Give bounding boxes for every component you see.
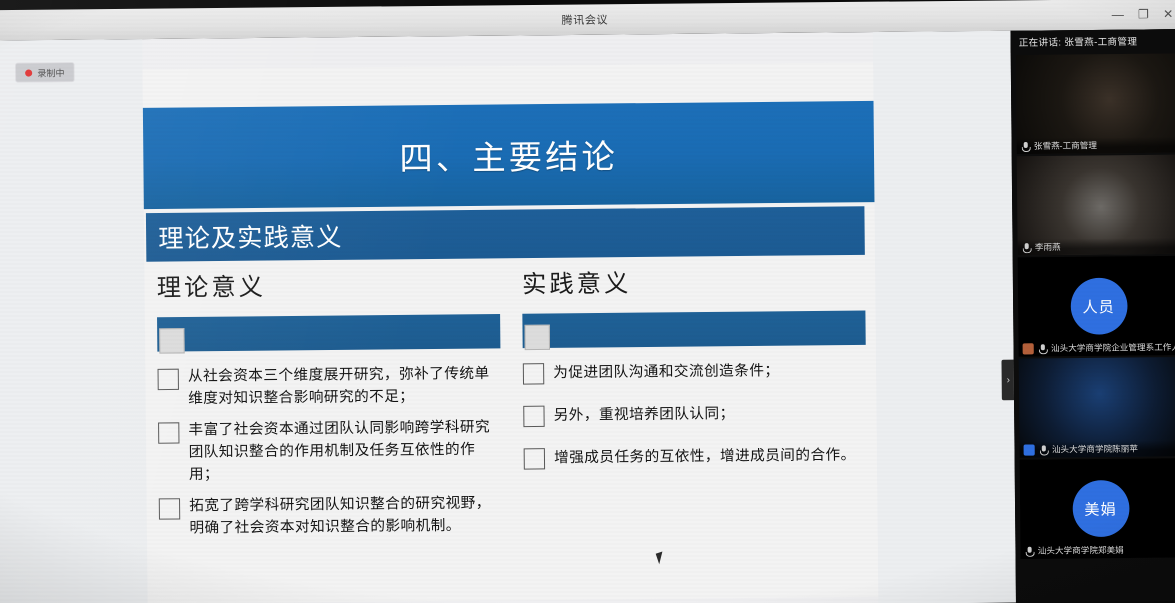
avatar: 美娟 <box>1072 480 1129 537</box>
participant-name: 汕头大学商学院企业管理系工作人员 <box>1051 341 1175 354</box>
minimize-icon[interactable]: — <box>1112 8 1124 20</box>
bullet-text: 另外，重视培养团队认同； <box>554 403 735 427</box>
meeting-body: 录制中 四、主要结论 理论及实践意义 理论意义 <box>0 29 1175 603</box>
record-dot-icon <box>25 69 32 76</box>
shared-screen-area[interactable]: 录制中 四、主要结论 理论及实践意义 理论意义 <box>0 31 1016 603</box>
list-item: 拓宽了跨学科研究团队知识整合的研究视野，明确了社会资本对知识整合的影响机制。 <box>159 492 502 540</box>
slide-subtitle: 理论及实践意义 <box>146 217 343 255</box>
checkbox-icon <box>158 369 179 390</box>
recording-label: 录制中 <box>37 66 64 79</box>
maximize-icon[interactable]: ❐ <box>1138 8 1149 20</box>
microphone-icon <box>1025 546 1034 555</box>
slide-column-practice: 实践意义 为促进团队沟通和交流创造条件； 另外，重视培养团队认同； <box>510 261 879 598</box>
rule-square-icon <box>524 325 550 351</box>
slide-column-theory: 理论意义 从社会资本三个维度展开研究，弥补了传统单维度对知识整合影响研究的不足；… <box>144 264 513 601</box>
checkbox-icon <box>524 448 545 469</box>
screen: 腾讯会议 — ❐ ✕ 录制中 四、主要结论 <box>0 0 1175 603</box>
list-item: 另外，重视培养团队认同； <box>523 402 866 428</box>
bullet-text: 拓宽了跨学科研究团队知识整合的研究视野，明确了社会资本对知识整合的影响机制。 <box>189 492 502 540</box>
participant-name-bar: 张雪燕-工商管理 <box>1017 136 1175 154</box>
rule-square-icon <box>159 328 185 354</box>
window-controls: — ❐ ✕ <box>1112 0 1174 30</box>
app-title: 腾讯会议 <box>561 11 608 28</box>
slide-subtitle-banner: 理论及实践意义 <box>146 206 865 261</box>
column-heading: 实践意义 <box>522 261 865 300</box>
list-item: 增强成员任务的互依性，增进成员间的合作。 <box>524 444 867 470</box>
checkbox-icon <box>523 406 544 427</box>
checkbox-icon <box>159 498 180 519</box>
participant-name-bar: 汕头大学商学院企业管理系工作人员 <box>1018 339 1175 357</box>
participant-tile[interactable]: 人员 汕头大学商学院企业管理系工作人员 <box>1018 256 1175 357</box>
bullet-text: 增强成员任务的互依性，增进成员间的合作。 <box>554 444 856 469</box>
participant-name: 汕头大学商学院郑美娟 <box>1038 544 1124 557</box>
list-item: 为促进团队沟通和交流创造条件； <box>523 359 866 385</box>
column-rule <box>522 310 865 348</box>
bullet-text: 为促进团队沟通和交流创造条件； <box>553 360 779 384</box>
bullet-text: 从社会资本三个维度展开研究，弥补了传统单维度对知识整合影响研究的不足； <box>188 363 501 411</box>
column-heading: 理论意义 <box>157 264 500 303</box>
bullet-text: 丰富了社会资本通过团队认同影响跨学科研究团队知识整合的作用机制及任务互依性的作用… <box>188 416 501 486</box>
monitor-photo: 腾讯会议 — ❐ ✕ 录制中 四、主要结论 <box>0 0 1175 603</box>
participant-tile[interactable]: 张雪燕-工商管理 <box>1016 53 1175 154</box>
slide-title-banner: 四、主要结论 <box>143 101 875 209</box>
microphone-icon <box>1038 344 1047 353</box>
list-item: 丰富了社会资本通过团队认同影响跨学科研究团队知识整合的作用机制及任务互依性的作用… <box>158 416 502 486</box>
active-speaker-label: 正在讲话: 张雪燕-工商管理 <box>1010 29 1175 53</box>
participant-name: 张雪燕-工商管理 <box>1034 139 1097 152</box>
avatar: 人员 <box>1070 278 1127 335</box>
slide-title: 四、主要结论 <box>399 130 618 181</box>
participant-name-bar: 李雨燕 <box>1018 238 1175 256</box>
participant-tile[interactable]: 李雨燕 <box>1017 155 1175 256</box>
list-item: 从社会资本三个维度展开研究，弥补了传统单维度对知识整合影响研究的不足； <box>157 363 500 411</box>
microphone-icon <box>1039 445 1048 454</box>
checkbox-icon <box>523 363 544 384</box>
recording-badge: 录制中 <box>15 62 75 83</box>
avatar-thumb-icon <box>1024 444 1035 455</box>
microphone-icon <box>1022 243 1031 252</box>
column-rule <box>157 314 500 352</box>
participant-name: 李雨燕 <box>1035 241 1061 253</box>
desktop-left-margin <box>0 39 148 603</box>
participant-name-bar: 汕头大学商学院陈丽苹 <box>1019 440 1175 458</box>
desktop-right-margin <box>873 31 1016 603</box>
avatar-thumb-icon <box>1023 343 1034 354</box>
microphone-icon <box>1021 141 1030 150</box>
participant-name-bar: 汕头大学商学院郑美娟 <box>1020 541 1175 559</box>
participant-tile[interactable]: 美娟 汕头大学商学院郑美娟 <box>1020 458 1175 559</box>
checkbox-icon <box>158 422 179 443</box>
participant-name: 汕头大学商学院陈丽苹 <box>1052 442 1138 455</box>
close-icon[interactable]: ✕ <box>1163 8 1173 20</box>
participant-tile[interactable]: 汕头大学商学院陈丽苹 <box>1019 357 1175 458</box>
presentation-slide: 四、主要结论 理论及实践意义 理论意义 <box>143 62 879 603</box>
slide-columns: 理论意义 从社会资本三个维度展开研究，弥补了传统单维度对知识整合影响研究的不足；… <box>144 261 878 602</box>
participant-rail[interactable]: 正在讲话: 张雪燕-工商管理 张雪燕-工商管理 李雨燕 人员 <box>1010 29 1175 602</box>
